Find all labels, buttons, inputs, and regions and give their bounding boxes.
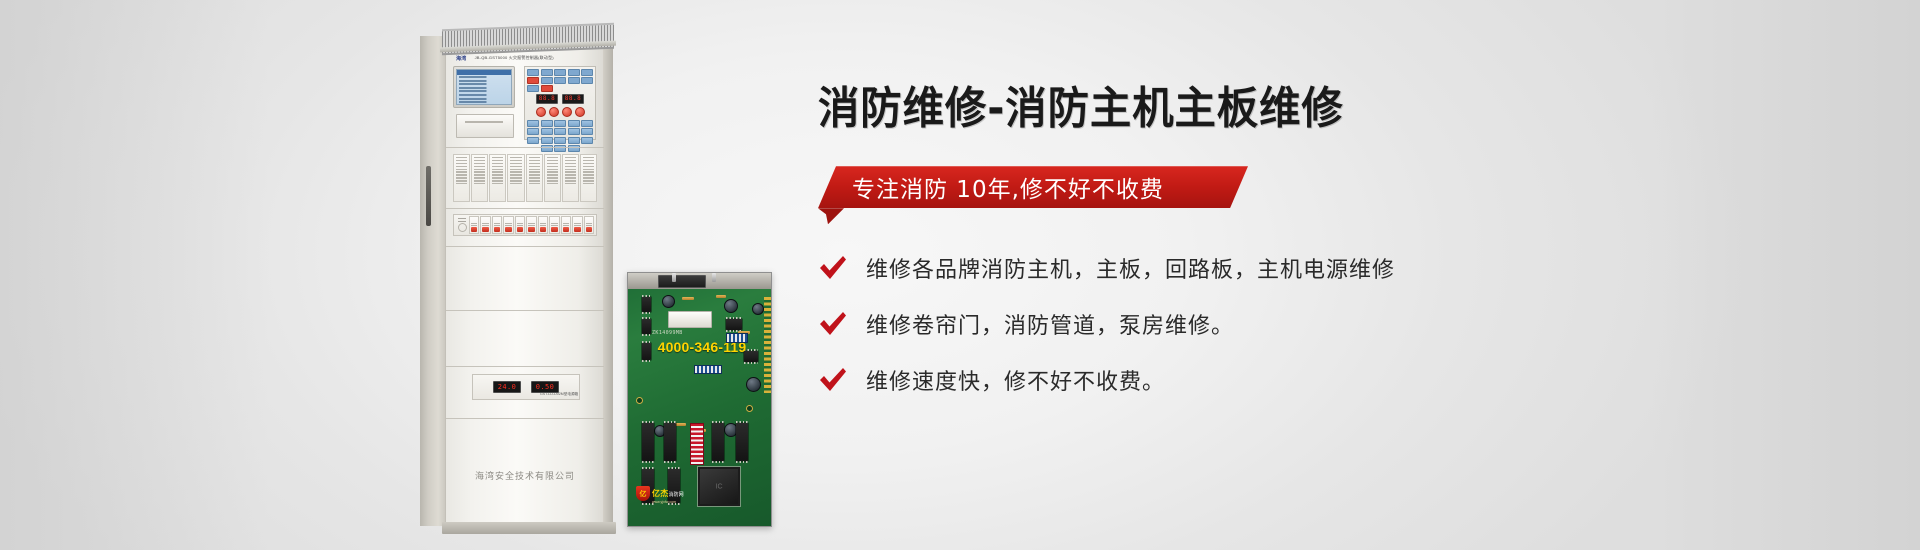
pcb-capacitor xyxy=(662,295,675,308)
zone-module xyxy=(469,216,479,234)
pcb-chip xyxy=(642,319,651,334)
cabinet-divider xyxy=(446,246,604,247)
pcb-dip-switch xyxy=(694,365,722,374)
cabinet-model-label: JB-QB-GST5000 火灾报警控制器(联动型) xyxy=(475,55,554,61)
pcb-chip xyxy=(642,423,654,461)
keypad-key[interactable] xyxy=(541,137,553,144)
loop-card xyxy=(580,154,597,202)
pcb-dip-switch xyxy=(726,333,748,343)
fire-alarm-control-panel-photo: 海湾 JB-QB-GST5000 火灾报警控制器(联动型) xyxy=(420,14,620,542)
cabinet-keypad-panel: 88.8 88.8 xyxy=(524,66,596,140)
zone-module xyxy=(538,216,548,234)
watermark-text: 亿杰消防网 www.yjxfw.com xyxy=(652,484,684,504)
pcb-mounting-hole xyxy=(636,397,643,404)
ribbon-tail xyxy=(818,208,844,224)
keypad-key[interactable] xyxy=(527,120,539,127)
check-icon xyxy=(818,255,848,281)
list-item: 维修卷帘门，消防管道，泵房维修。 xyxy=(818,308,1838,340)
pcb-chip xyxy=(712,423,724,461)
watermark-url: www.yjxfw.com xyxy=(652,501,684,504)
cabinet-base-plinth xyxy=(442,522,616,534)
pcb-resistor xyxy=(682,297,694,300)
cabinet-company-name: 海湾安全技术有限公司 xyxy=(445,469,605,482)
keypad-key[interactable] xyxy=(541,120,553,127)
cabinet-divider xyxy=(446,147,604,148)
keypad-key[interactable] xyxy=(554,137,566,144)
loop-card xyxy=(489,154,506,202)
pcb-capacitor xyxy=(724,299,738,313)
zone-module xyxy=(572,216,582,234)
keypad-seven-segment-displays: 88.8 88.8 xyxy=(527,94,593,104)
cabinet-divider xyxy=(446,366,604,367)
power-voltage-display: 24.0 xyxy=(493,381,521,393)
zone-module xyxy=(526,216,536,234)
check-icon xyxy=(818,311,848,337)
zone-module xyxy=(549,216,559,234)
cabinet-divider xyxy=(446,418,604,419)
cabinet-zone-indicator-row xyxy=(453,214,597,236)
loop-card xyxy=(453,154,470,202)
pcb-edge-connector-fingers xyxy=(764,297,771,393)
keypad-key[interactable] xyxy=(527,128,539,135)
zone-module xyxy=(515,216,525,234)
list-item-label: 维修速度快，修不好不收费。 xyxy=(866,364,1165,396)
pcb-resistor xyxy=(716,295,726,298)
pcb-eprom xyxy=(668,311,712,328)
cabinet-power-label: GST-LD-D02M型电源箱 xyxy=(540,392,578,397)
zone-module xyxy=(503,216,513,234)
list-item: 维修速度快，修不好不收费。 xyxy=(818,364,1838,396)
loop-card xyxy=(507,154,524,202)
pcb-ribbon-connector xyxy=(658,275,706,288)
watermark-brand: 亿杰 xyxy=(652,489,669,498)
pcb-qfp-processor: IC xyxy=(700,469,738,504)
list-item: 维修各品牌消防主机，主板，回路板，主机电源维修 xyxy=(818,252,1838,284)
pcb-chip xyxy=(726,319,742,330)
keypad-digit-left: 88.8 xyxy=(536,94,558,104)
zone-module xyxy=(561,216,571,234)
loop-card xyxy=(562,154,579,202)
cabinet-lcd-bezel xyxy=(453,66,515,108)
zone-module xyxy=(492,216,502,234)
pcb-chip-label: IC xyxy=(716,483,723,490)
cabinet-loop-card-rack xyxy=(453,154,597,202)
pcb-connector-pin xyxy=(712,273,716,282)
pcb-connector-pin xyxy=(672,273,676,282)
promo-banner: 海湾 JB-QB-GST5000 火灾报警控制器(联动型) xyxy=(0,0,1920,550)
keypad-key[interactable] xyxy=(568,137,580,144)
alarm-button[interactable] xyxy=(562,107,572,117)
ribbon-body: 专注消防 10年,修不好不收费 xyxy=(818,166,1248,208)
page-title: 消防维修-消防主机主板维修 xyxy=(818,86,1777,132)
loop-card xyxy=(471,154,488,202)
pcb-mounting-hole xyxy=(746,405,753,412)
watermark-brand-suffix: 消防网 xyxy=(669,492,684,498)
alarm-button[interactable] xyxy=(536,107,546,117)
promo-content: 消防维修-消防主机主板维修 专注消防 10年,修不好不收费 维修各品牌消防主机，… xyxy=(818,86,1838,420)
list-item-label: 维修各品牌消防主机，主板，回路板，主机电源维修 xyxy=(866,252,1395,284)
keypad-key[interactable] xyxy=(541,128,553,135)
cabinet-brand-logo: 海湾 xyxy=(456,55,467,62)
service-feature-list: 维修各品牌消防主机，主板，回路板，主机电源维修 维修卷帘门，消防管道，泵房维修。… xyxy=(818,252,1838,396)
keypad-key[interactable] xyxy=(554,128,566,135)
pcb-capacitor xyxy=(752,303,764,315)
shield-icon: 亿 xyxy=(636,486,650,501)
keypad-key[interactable] xyxy=(527,137,539,144)
cabinet-side-panel xyxy=(420,36,447,526)
pcb-chip xyxy=(664,423,676,461)
cabinet-brand-row: 海湾 JB-QB-GST5000 火灾报警控制器(联动型) xyxy=(456,54,598,62)
pcb-watermark-logo: 亿 亿杰消防网 www.yjxfw.com xyxy=(636,484,684,504)
keypad-key[interactable] xyxy=(581,137,593,144)
pcb-chip xyxy=(736,423,748,461)
lcd-event-rows xyxy=(457,75,511,105)
loop-card xyxy=(544,154,561,202)
cabinet-lcd-screen xyxy=(456,69,512,105)
cabinet-divider xyxy=(446,310,604,311)
keypad-digit-right: 88.8 xyxy=(562,94,584,104)
check-icon xyxy=(818,367,848,393)
loop-card xyxy=(526,154,543,202)
alarm-button[interactable] xyxy=(549,107,559,117)
keypad-status-leds xyxy=(527,69,593,92)
keypad-key[interactable] xyxy=(581,128,593,135)
ribbon-label: 专注消防 10年,修不好不收费 xyxy=(852,170,1164,204)
pcb-capacitor xyxy=(746,377,761,392)
keypad-key[interactable] xyxy=(568,128,580,135)
pcb-serial-silkscreen: ZK14099MB xyxy=(652,330,722,336)
keypad-key[interactable] xyxy=(581,120,593,127)
keypad-alarm-buttons[interactable] xyxy=(527,107,593,117)
fire-alarm-mainboard-pcb-photo: ZK14099MB 4000-346-119 IC 亿 亿杰消防网 www.yj… xyxy=(627,272,772,527)
alarm-button[interactable] xyxy=(575,107,585,117)
cabinet-printer-slot xyxy=(456,114,514,138)
zone-module xyxy=(480,216,490,234)
cabinet-right-edge xyxy=(603,38,613,526)
cabinet-divider xyxy=(446,208,604,209)
keypad-key[interactable] xyxy=(568,120,580,127)
keypad-key[interactable] xyxy=(554,120,566,127)
pcb-dip-switch-red xyxy=(690,423,704,465)
list-item-label: 维修卷帘门，消防管道，泵房维修。 xyxy=(866,308,1234,340)
tagline-ribbon: 专注消防 10年,修不好不收费 xyxy=(818,166,1248,216)
zone-module xyxy=(584,216,594,234)
pcb-chip xyxy=(642,297,651,312)
zone-row-header xyxy=(456,216,468,234)
